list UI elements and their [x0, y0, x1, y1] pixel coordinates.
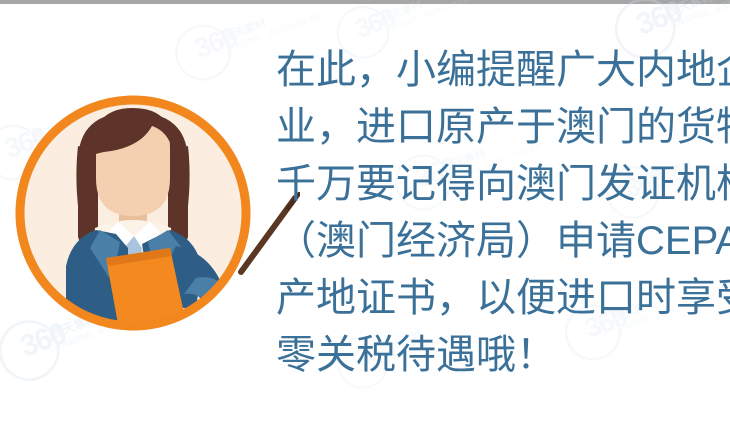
top-divider-rule	[0, 0, 730, 4]
hand-left-finger-2	[154, 332, 182, 341]
watermark-brand-sub: @搜狐/搜狐，@搜索360搜天素材	[384, 0, 477, 34]
watermark-number: 360	[190, 20, 240, 65]
body-text-line-1: 在此，小编提醒广大内地企	[276, 42, 722, 99]
watermark-number: 360	[631, 0, 685, 42]
presenter-illustration	[0, 70, 300, 360]
watermark-number: 360	[351, 2, 398, 44]
watermark-brand-sub: @搜狐/搜狐，@搜索360搜天素材	[669, 0, 730, 30]
body-text-line-2: 业，进口原产于澳门的货物	[276, 99, 722, 156]
body-text-block: 在此，小编提醒广大内地企 业，进口原产于澳门的货物 千万要记得向澳门发证机构 （…	[276, 42, 722, 384]
image-canvas: 360 搜天素材 @搜狐/搜狐，@搜索360搜天素材 360 搜天素材 @搜狐/…	[0, 0, 730, 424]
body-text-line-6: 零关税待遇哦！	[276, 327, 722, 384]
cuff-left	[146, 328, 160, 346]
body-text-line-5: 产地证书，以便进口时享受	[276, 270, 722, 327]
body-text-line-3: 千万要记得向澳门发证机构	[276, 156, 722, 213]
watermark-brand-cn: 搜天素材	[221, 14, 268, 44]
body-text-line-4: （澳门经济局）申请CEPA原	[276, 213, 722, 270]
